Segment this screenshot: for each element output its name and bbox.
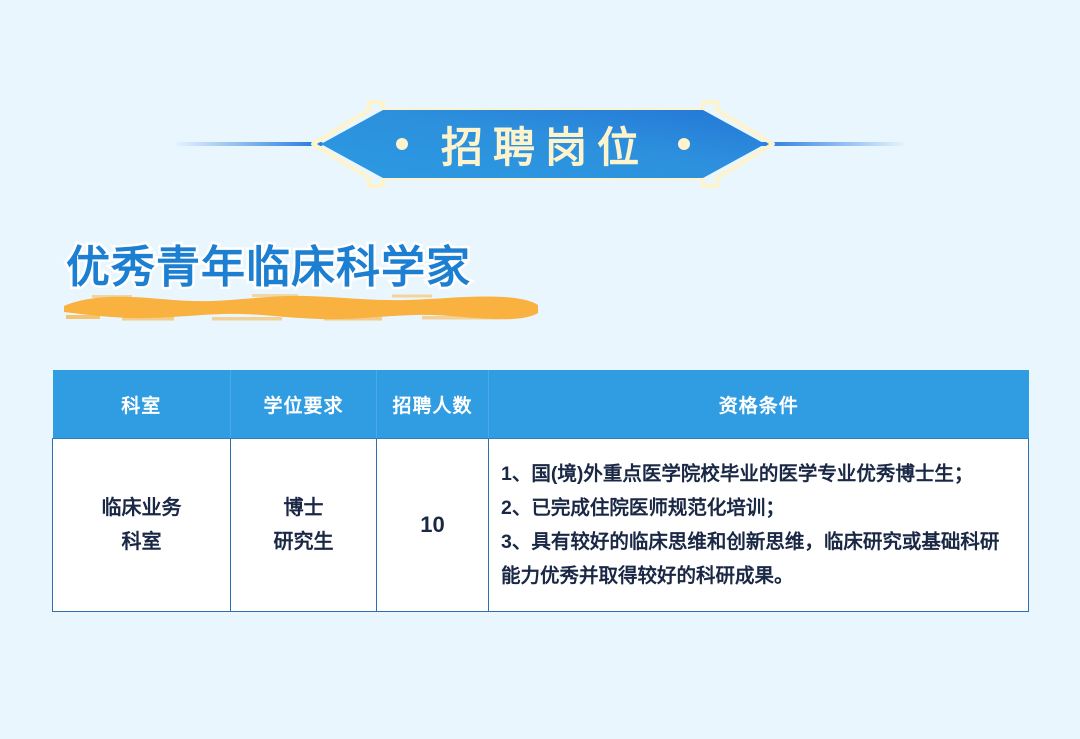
brush-stroke-highlight bbox=[62, 292, 540, 322]
decorative-line-left bbox=[175, 142, 323, 146]
section-title: 优秀青年临床科学家 bbox=[66, 240, 471, 296]
cell-qualifications: 1、国(境)外重点医学院校毕业的医学专业优秀博士生； 2、已完成住院医师规范化培… bbox=[489, 439, 1029, 612]
banner-title: 招聘岗位 bbox=[305, 100, 775, 188]
table-row: 临床业务 科室 博士 研究生 10 1、国(境)外重点医学院校毕业的医学专业优秀… bbox=[53, 439, 1029, 612]
cell-degree: 博士 研究生 bbox=[231, 439, 377, 612]
qualification-item: 3、具有较好的临床思维和创新思维，临床研究或基础科研能力优秀并取得较好的科研成果… bbox=[501, 525, 1014, 593]
degree-line-1: 博士 bbox=[284, 497, 324, 519]
table-header-row: 科室 学位要求 招聘人数 资格条件 bbox=[53, 370, 1029, 439]
column-header-department: 科室 bbox=[53, 370, 231, 439]
decorative-line-right bbox=[757, 142, 905, 146]
cell-department: 临床业务 科室 bbox=[53, 439, 231, 612]
qualification-item: 2、已完成住院医师规范化培训； bbox=[501, 491, 1014, 525]
department-line-1: 临床业务 bbox=[102, 497, 182, 519]
column-header-qualifications: 资格条件 bbox=[489, 370, 1029, 439]
recruitment-table: 科室 学位要求 招聘人数 资格条件 临床业务 科室 博士 研究生 10 1、国(… bbox=[52, 370, 1029, 612]
qualification-item: 1、国(境)外重点医学院校毕业的医学专业优秀博士生； bbox=[501, 457, 1014, 491]
degree-line-2: 研究生 bbox=[274, 531, 334, 553]
banner-region: 招聘岗位 bbox=[0, 100, 1080, 190]
department-line-2: 科室 bbox=[122, 531, 162, 553]
column-header-headcount: 招聘人数 bbox=[377, 370, 489, 439]
cell-headcount: 10 bbox=[377, 439, 489, 612]
column-header-degree: 学位要求 bbox=[231, 370, 377, 439]
section-heading: 优秀青年临床科学家 bbox=[62, 240, 682, 330]
